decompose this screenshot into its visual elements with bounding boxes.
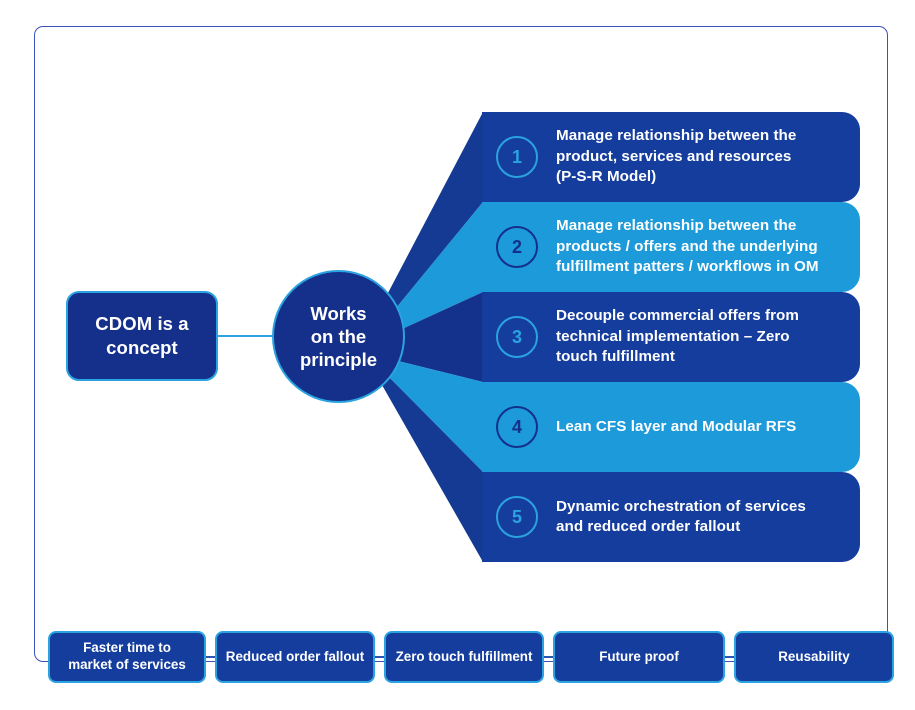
benefit-chip-5[interactable]: Reusability: [734, 631, 894, 683]
principle-text-4: Lean CFS layer and Modular RFS: [556, 417, 808, 437]
principle-band-3[interactable]: 3 Decouple commercial offers from techni…: [482, 292, 860, 382]
principle-number-badge-1: 1: [496, 136, 538, 178]
principle-text-1: Manage relationship between the product,…: [556, 126, 808, 187]
benefit-chip-4[interactable]: Future proof: [553, 631, 725, 683]
concept-box[interactable]: CDOM is a concept: [66, 291, 218, 381]
benefit-chip-3[interactable]: Zero touch fulfillment: [384, 631, 544, 683]
principle-text-5: Dynamic orchestration of services and re…: [556, 497, 818, 538]
benefits-row: Faster time to market of services Reduce…: [48, 631, 868, 683]
principle-number-badge-4: 4: [496, 406, 538, 448]
principle-text-2: Manage relationship between the products…: [556, 216, 831, 277]
diagram-canvas: CDOM is a concept Works on the principle…: [0, 0, 915, 710]
dash-icon: [725, 656, 734, 658]
benefit-chip-1[interactable]: Faster time to market of services: [48, 631, 206, 683]
benefit-separator-1: [206, 631, 215, 683]
principle-band-5[interactable]: 5 Dynamic orchestration of services and …: [482, 472, 860, 562]
dash-icon: [206, 656, 215, 658]
principle-band-2[interactable]: 2 Manage relationship between the produc…: [482, 202, 860, 292]
benefit-separator-2: [375, 631, 384, 683]
benefit-separator-4: [725, 631, 734, 683]
concept-to-hub-connector: [218, 335, 278, 337]
principle-number-badge-3: 3: [496, 316, 538, 358]
principle-number-badge-5: 5: [496, 496, 538, 538]
principle-text-3: Decouple commercial offers from technica…: [556, 306, 811, 367]
dash-icon: [375, 656, 384, 658]
benefit-separator-3: [544, 631, 553, 683]
benefit-chip-2[interactable]: Reduced order fallout: [215, 631, 375, 683]
principle-number-badge-2: 2: [496, 226, 538, 268]
principle-band-4[interactable]: 4 Lean CFS layer and Modular RFS: [482, 382, 860, 472]
dash-icon: [544, 656, 553, 658]
principle-band-1[interactable]: 1 Manage relationship between the produc…: [482, 112, 860, 202]
principle-hub-circle[interactable]: Works on the principle: [272, 270, 405, 403]
